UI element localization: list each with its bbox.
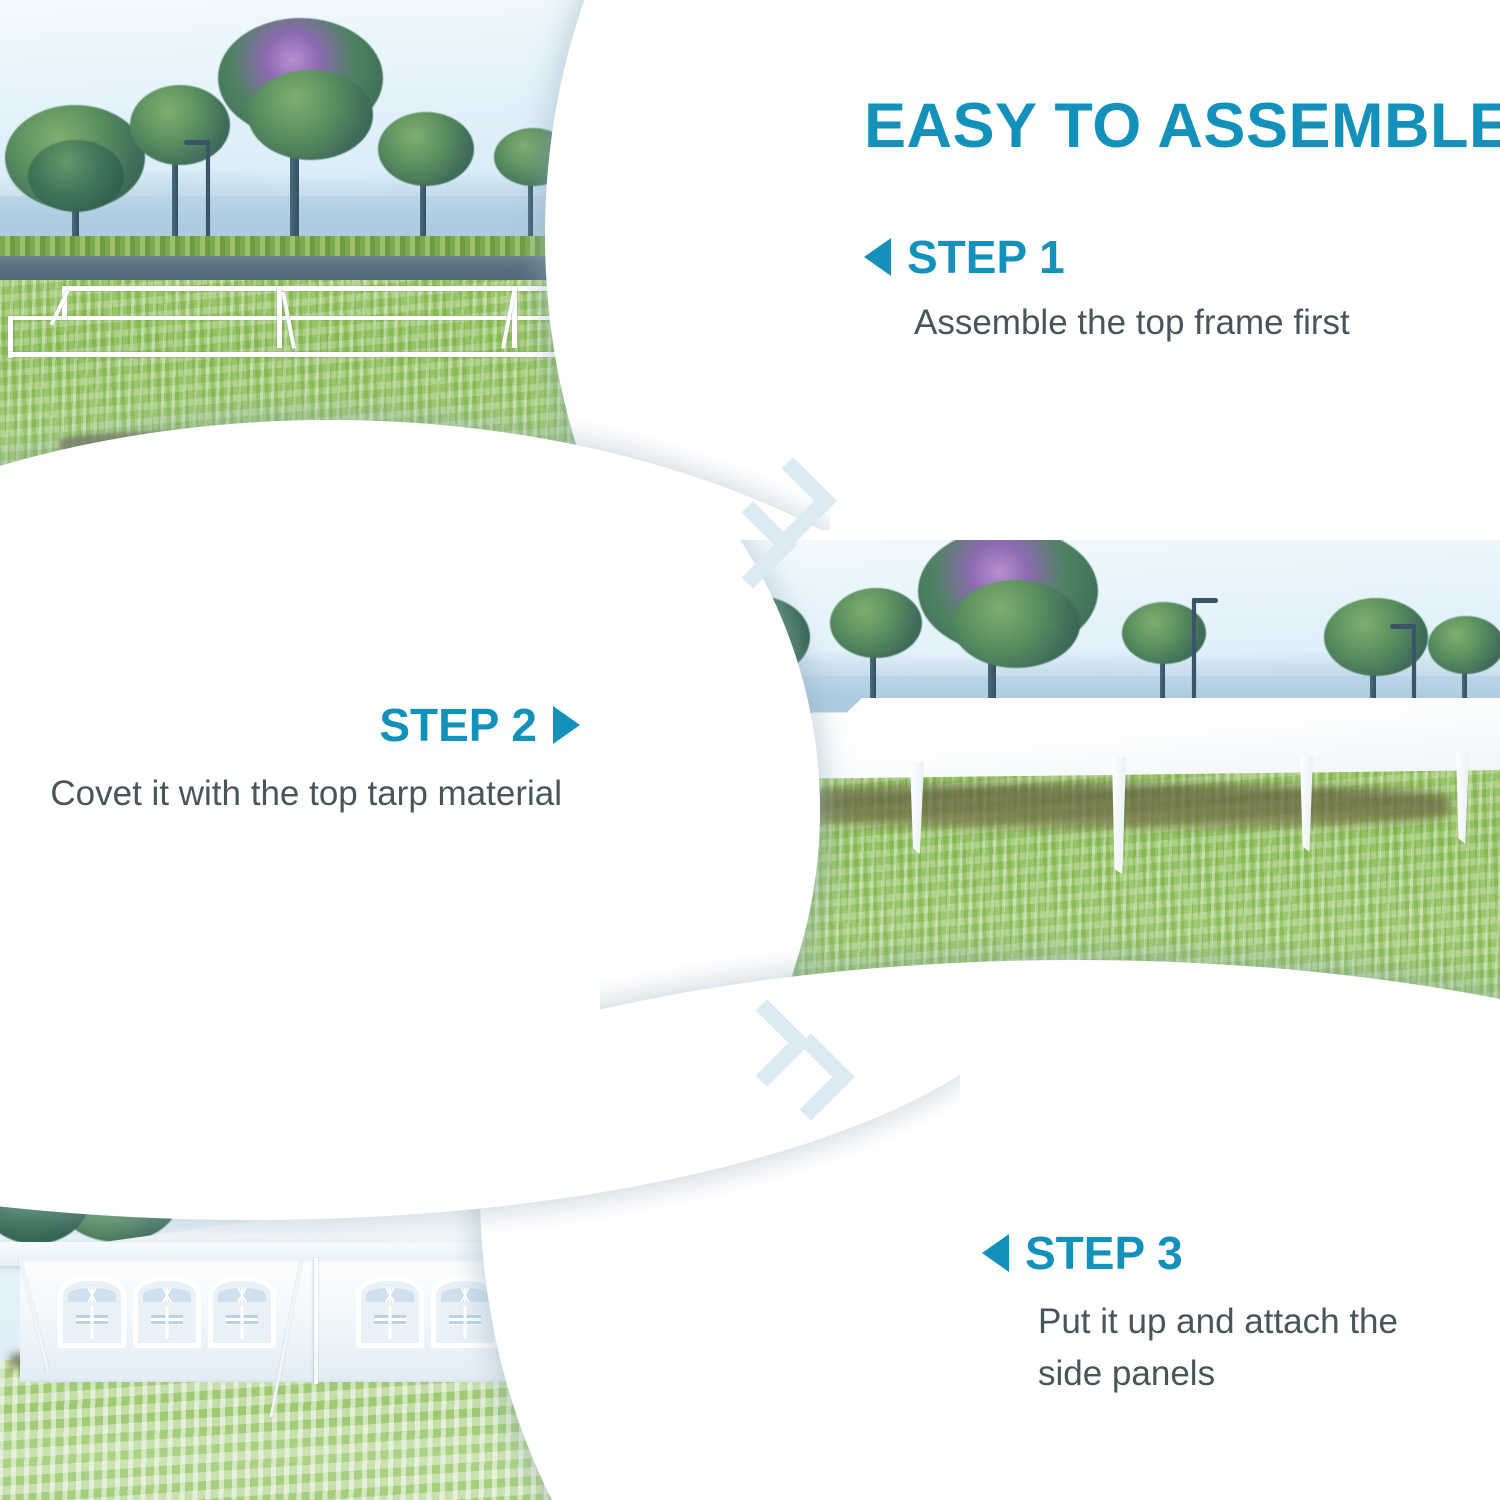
step-1-heading: STEP 1 (864, 232, 1464, 282)
triangle-left-icon (982, 1234, 1009, 1272)
infographic-canvas: EASY TO ASSEMBLE STEP 1 Assemble the top… (0, 0, 1500, 1500)
triangle-right-icon (553, 706, 580, 744)
step-1-label: STEP 1 (907, 232, 1065, 282)
step-1-block: STEP 1 Assemble the top frame first (864, 232, 1464, 346)
step-2-block: STEP 2 Covet it with the top tarp materi… (20, 700, 580, 820)
dirt-shadow-strip (750, 784, 1450, 828)
step-2-label: STEP 2 (379, 700, 537, 750)
step-3-block: STEP 3 Put it up and attach the side pan… (982, 1228, 1462, 1400)
step2-photo (600, 540, 1500, 1060)
step-3-label: STEP 3 (1025, 1228, 1183, 1278)
window-group (58, 1276, 276, 1348)
step-2-heading: STEP 2 (20, 700, 580, 750)
step-2-description: Covet it with the top tarp material (20, 768, 562, 820)
page-title: EASY TO ASSEMBLE (864, 90, 1500, 162)
step-1-description: Assemble the top frame first (914, 300, 1464, 346)
triangle-left-icon (864, 238, 891, 276)
step-3-heading: STEP 3 (982, 1228, 1462, 1278)
step1-photo (0, 0, 830, 530)
step-3-description: Put it up and attach the side panels (1038, 1296, 1462, 1400)
